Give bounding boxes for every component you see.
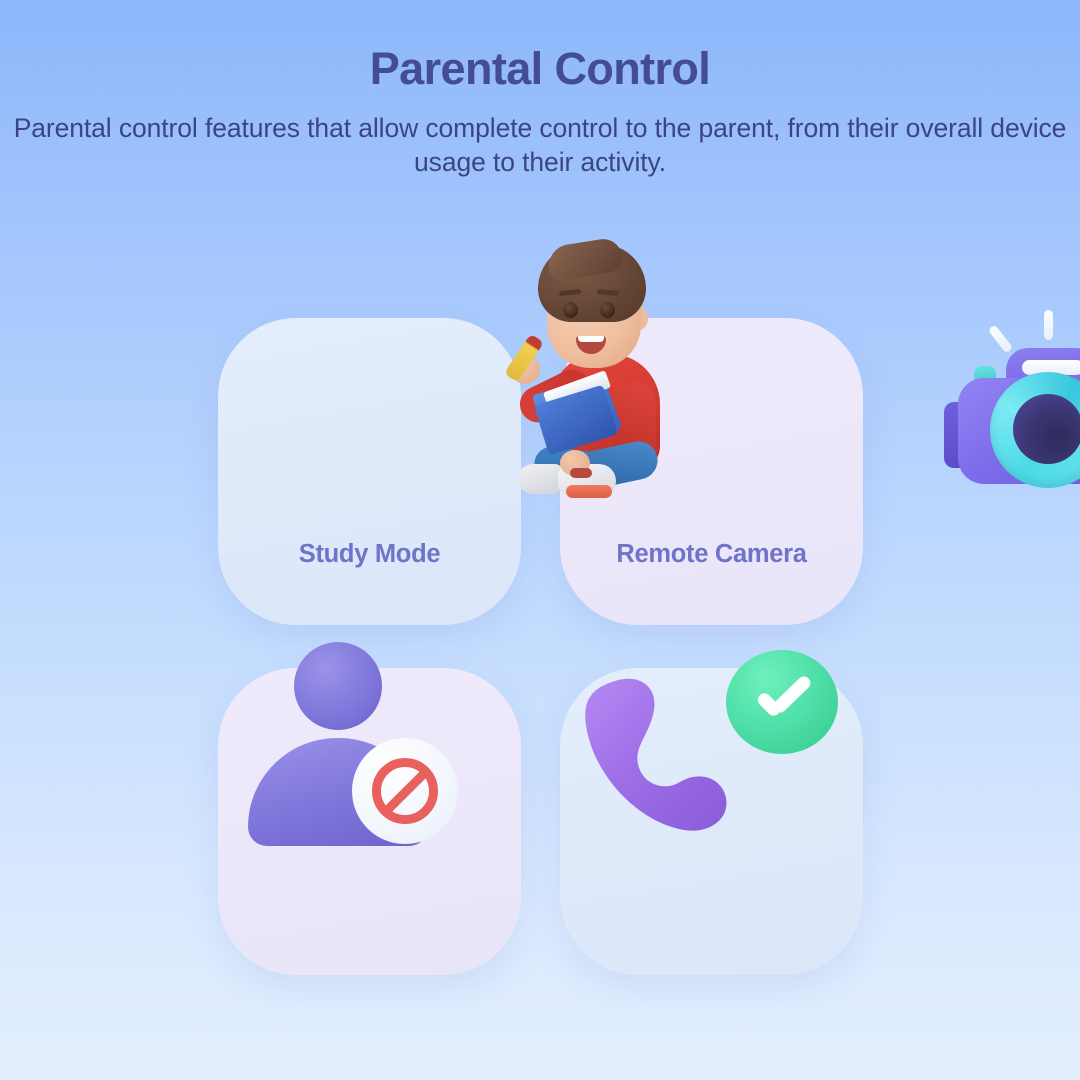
feature-card-auto-answer[interactable]: Auto Answer bbox=[560, 668, 863, 975]
page-title: Parental Control bbox=[0, 42, 1080, 97]
parental-control-feature-page: Parental Control Parental control featur… bbox=[0, 0, 1080, 1080]
feature-card-grid: Study Mode Remote Camera bbox=[218, 318, 863, 975]
feature-card-remote-camera[interactable]: Remote Camera bbox=[560, 318, 863, 625]
phone-check-icon bbox=[568, 650, 858, 862]
feature-card-label: Study Mode bbox=[218, 540, 521, 570]
person-blocked-icon bbox=[234, 642, 464, 850]
feature-card-unknown-call-restriction[interactable]: Unknown Call Restriction bbox=[218, 668, 521, 975]
page-header: Parental Control Parental control featur… bbox=[0, 0, 1080, 179]
feature-card-label: Remote Camera bbox=[560, 540, 863, 570]
feature-card-study-mode[interactable]: Study Mode bbox=[218, 318, 521, 625]
page-subtitle: Parental control features that allow com… bbox=[0, 111, 1080, 179]
camera-icon bbox=[930, 310, 1080, 520]
